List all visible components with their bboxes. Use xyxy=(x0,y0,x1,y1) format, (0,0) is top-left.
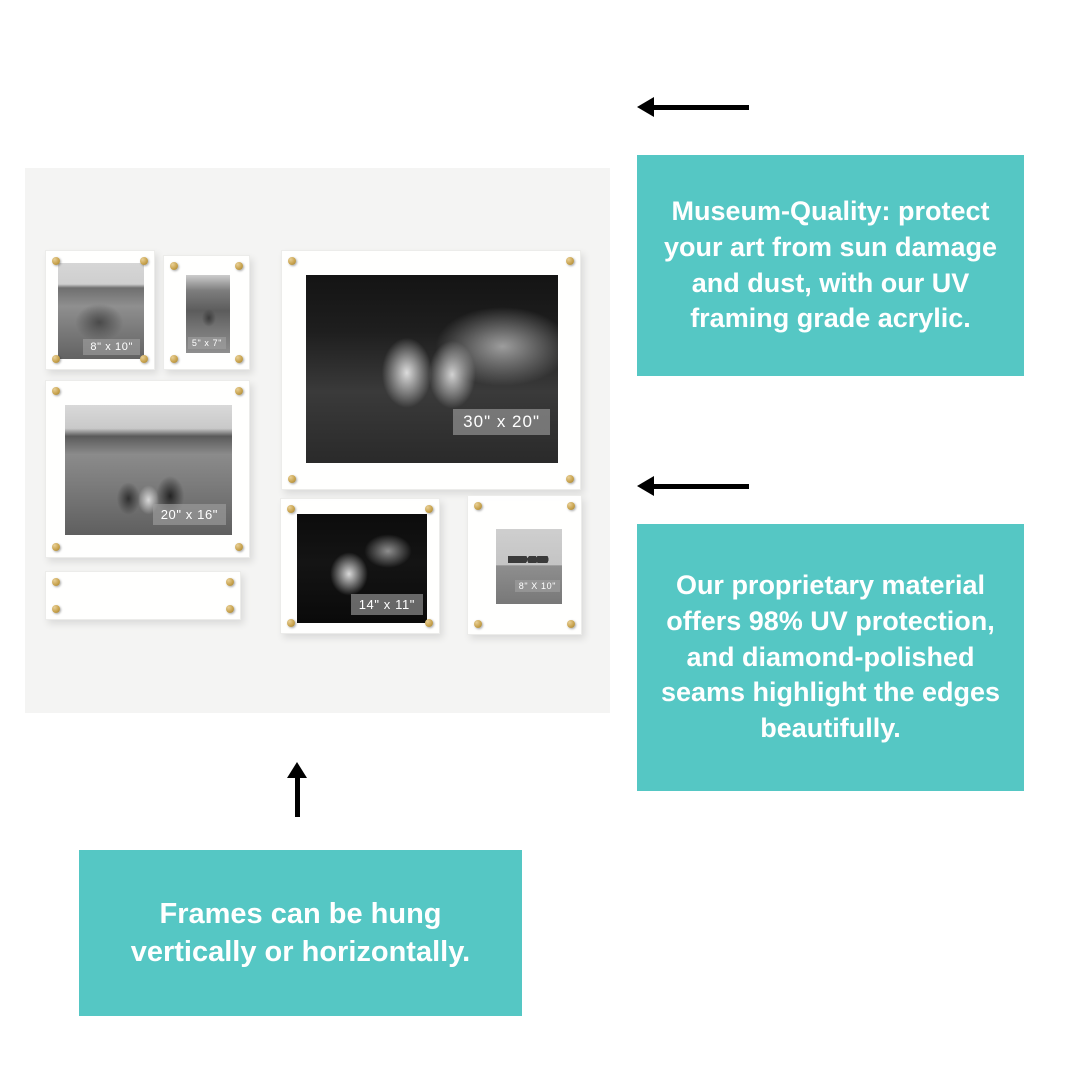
stud-icon xyxy=(52,257,60,265)
beach-figures xyxy=(508,556,550,563)
stud-icon xyxy=(235,543,243,551)
arrow-shaft xyxy=(651,484,749,489)
stud-icon xyxy=(567,620,575,628)
frame-8x10-square[interactable]: 8" X 10" xyxy=(467,495,582,635)
size-label: 8" x 10" xyxy=(83,339,140,355)
stud-icon xyxy=(474,620,482,628)
stud-icon xyxy=(288,257,296,265)
frame-20x16-landscape[interactable]: 20" x 16" xyxy=(45,380,250,558)
callout-orientation: Frames can be hung vertically or horizon… xyxy=(79,850,522,1016)
frame-5x7-portrait[interactable]: 5" x 7" xyxy=(163,255,250,370)
stud-icon xyxy=(52,387,60,395)
stud-icon xyxy=(226,605,234,613)
frame-8x10-portrait[interactable]: 8" x 10" xyxy=(45,250,155,370)
frame-30x20-landscape[interactable]: 30" x 20" xyxy=(281,250,581,490)
stud-icon xyxy=(52,543,60,551)
stud-icon xyxy=(567,502,575,510)
stud-icon xyxy=(52,578,60,586)
stud-icon xyxy=(235,387,243,395)
photo-two-girls-laughing: 30" x 20" xyxy=(306,275,558,463)
stud-icon xyxy=(566,257,574,265)
frame-14x11-landscape[interactable]: 14" x 11" xyxy=(280,498,440,634)
frame-empty-panoramic[interactable] xyxy=(45,571,241,620)
size-label: 8" X 10" xyxy=(515,580,560,592)
size-label: 14" x 11" xyxy=(351,594,423,615)
size-label: 30" x 20" xyxy=(453,409,550,435)
stud-icon xyxy=(140,257,148,265)
photo-mother-and-child-in-field: 8" x 10" xyxy=(58,263,144,359)
stud-icon xyxy=(425,619,433,627)
photo-hands-holding-baby: 14" x 11" xyxy=(297,514,427,623)
arrow-pointing-left-top xyxy=(637,95,749,119)
size-label: 20" x 16" xyxy=(153,504,226,525)
stud-icon xyxy=(287,619,295,627)
arrow-pointing-left-bottom xyxy=(637,474,749,498)
stud-icon xyxy=(52,605,60,613)
arrow-shaft xyxy=(651,105,749,110)
stud-icon xyxy=(170,262,178,270)
callout-text: Museum-Quality: protect your art from su… xyxy=(655,194,1006,337)
gallery-wall-image: 8" x 10" 5" x 7" 30" x 20" xyxy=(25,168,610,713)
stud-icon xyxy=(288,475,296,483)
size-label: 5" x 7" xyxy=(188,337,226,349)
photo-figures-on-beach: 8" X 10" xyxy=(496,529,562,604)
stud-icon xyxy=(235,262,243,270)
callout-text: Our proprietary material offers 98% UV p… xyxy=(655,568,1006,746)
stud-icon xyxy=(52,355,60,363)
callout-museum-quality: Museum-Quality: protect your art from su… xyxy=(637,155,1024,376)
stud-icon xyxy=(474,502,482,510)
photo-two-children-on-path: 5" x 7" xyxy=(186,275,230,353)
stud-icon xyxy=(170,355,178,363)
stud-icon xyxy=(235,355,243,363)
stud-icon xyxy=(226,578,234,586)
callout-text: Frames can be hung vertically or horizon… xyxy=(97,895,504,972)
arrow-shaft xyxy=(295,774,300,817)
arrow-pointing-up xyxy=(286,762,310,817)
stud-icon xyxy=(287,505,295,513)
stud-icon xyxy=(140,355,148,363)
photo-three-children-in-meadow: 20" x 16" xyxy=(65,405,232,535)
callout-uv-protection: Our proprietary material offers 98% UV p… xyxy=(637,524,1024,791)
stud-icon xyxy=(425,505,433,513)
product-feature-infographic: 8" x 10" 5" x 7" 30" x 20" xyxy=(0,0,1080,1080)
scene-beach xyxy=(496,529,562,604)
stud-icon xyxy=(566,475,574,483)
